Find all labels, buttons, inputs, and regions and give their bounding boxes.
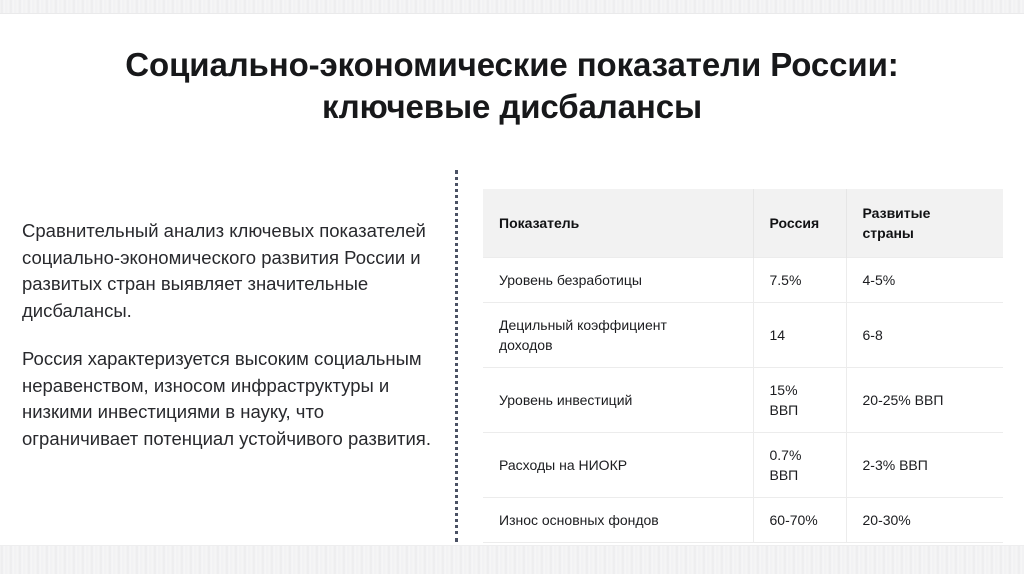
column-header-developed-label: Развитые страны	[863, 205, 931, 241]
table-header: Показатель Россия Развитые страны	[483, 189, 1003, 258]
cell-developed-text: 20-25% ВВП	[863, 392, 944, 408]
dotted-divider	[455, 170, 458, 542]
cell-developed-text: 6-8	[863, 327, 883, 343]
slide-canvas: Социально-экономические показатели Росси…	[0, 0, 1024, 574]
cell-indicator-text: Децильный коэффициент доходов	[499, 317, 667, 353]
cell-developed: 20-30%	[846, 498, 1003, 543]
slide-title: Социально-экономические показатели Росси…	[0, 44, 1024, 128]
column-header-indicator-label: Показатель	[499, 215, 579, 231]
cell-indicator: Расходы на НИОКР	[483, 433, 753, 498]
table-body: Уровень безработицы 7.5% 4-5% Децильный …	[483, 258, 1003, 543]
cell-developed: 4-5%	[846, 258, 1003, 303]
column-header-developed: Развитые страны	[846, 189, 1003, 258]
cell-indicator: Уровень безработицы	[483, 258, 753, 303]
viewer-bottom-band	[0, 545, 1024, 574]
cell-developed-text: 4-5%	[863, 272, 896, 288]
column-header-indicator: Показатель	[483, 189, 753, 258]
cell-indicator-text: Уровень инвестиций	[499, 392, 632, 408]
slide-body: Сравнительный анализ ключевых показателе…	[0, 170, 1024, 542]
table-row: Уровень инвестиций 15% ВВП 20-25% ВВП	[483, 368, 1003, 433]
narrative-paragraph-2: Россия характеризуется высоким социальны…	[22, 346, 432, 452]
narrative-column: Сравнительный анализ ключевых показателе…	[22, 218, 432, 452]
table-row: Износ основных фондов 60-70% 20-30%	[483, 498, 1003, 543]
comparison-table: Показатель Россия Развитые страны Уровен…	[483, 189, 1003, 543]
cell-indicator-text: Износ основных фондов	[499, 512, 659, 528]
viewer-top-band	[0, 0, 1024, 14]
cell-developed: 2-3% ВВП	[846, 433, 1003, 498]
cell-indicator-text: Уровень безработицы	[499, 272, 642, 288]
cell-russia: 14	[753, 303, 846, 368]
cell-russia-text: 60-70%	[770, 512, 818, 528]
cell-russia: 0.7% ВВП	[753, 433, 846, 498]
cell-russia-text: 0.7% ВВП	[770, 447, 802, 483]
cell-russia-text: 7.5%	[770, 272, 802, 288]
cell-russia: 60-70%	[753, 498, 846, 543]
cell-russia: 15% ВВП	[753, 368, 846, 433]
table-row: Расходы на НИОКР 0.7% ВВП 2-3% ВВП	[483, 433, 1003, 498]
slide-title-line-1: Социально-экономические показатели Росси…	[0, 44, 1024, 86]
cell-indicator-text: Расходы на НИОКР	[499, 457, 627, 473]
table-row: Уровень безработицы 7.5% 4-5%	[483, 258, 1003, 303]
table-row: Децильный коэффициент доходов 14 6-8	[483, 303, 1003, 368]
cell-developed-text: 20-30%	[863, 512, 911, 528]
table-header-row: Показатель Россия Развитые страны	[483, 189, 1003, 258]
cell-russia-text: 15% ВВП	[770, 382, 799, 418]
cell-developed: 20-25% ВВП	[846, 368, 1003, 433]
slide-title-line-2: ключевые дисбалансы	[0, 86, 1024, 128]
cell-developed: 6-8	[846, 303, 1003, 368]
cell-developed-text: 2-3% ВВП	[863, 457, 928, 473]
cell-russia-text: 14	[770, 327, 786, 343]
narrative-paragraph-1: Сравнительный анализ ключевых показателе…	[22, 218, 432, 324]
column-header-russia: Россия	[753, 189, 846, 258]
cell-indicator: Децильный коэффициент доходов	[483, 303, 753, 368]
cell-indicator: Износ основных фондов	[483, 498, 753, 543]
cell-russia: 7.5%	[753, 258, 846, 303]
cell-indicator: Уровень инвестиций	[483, 368, 753, 433]
comparison-table-wrapper: Показатель Россия Развитые страны Уровен…	[483, 189, 1003, 543]
column-header-russia-label: Россия	[770, 215, 820, 231]
